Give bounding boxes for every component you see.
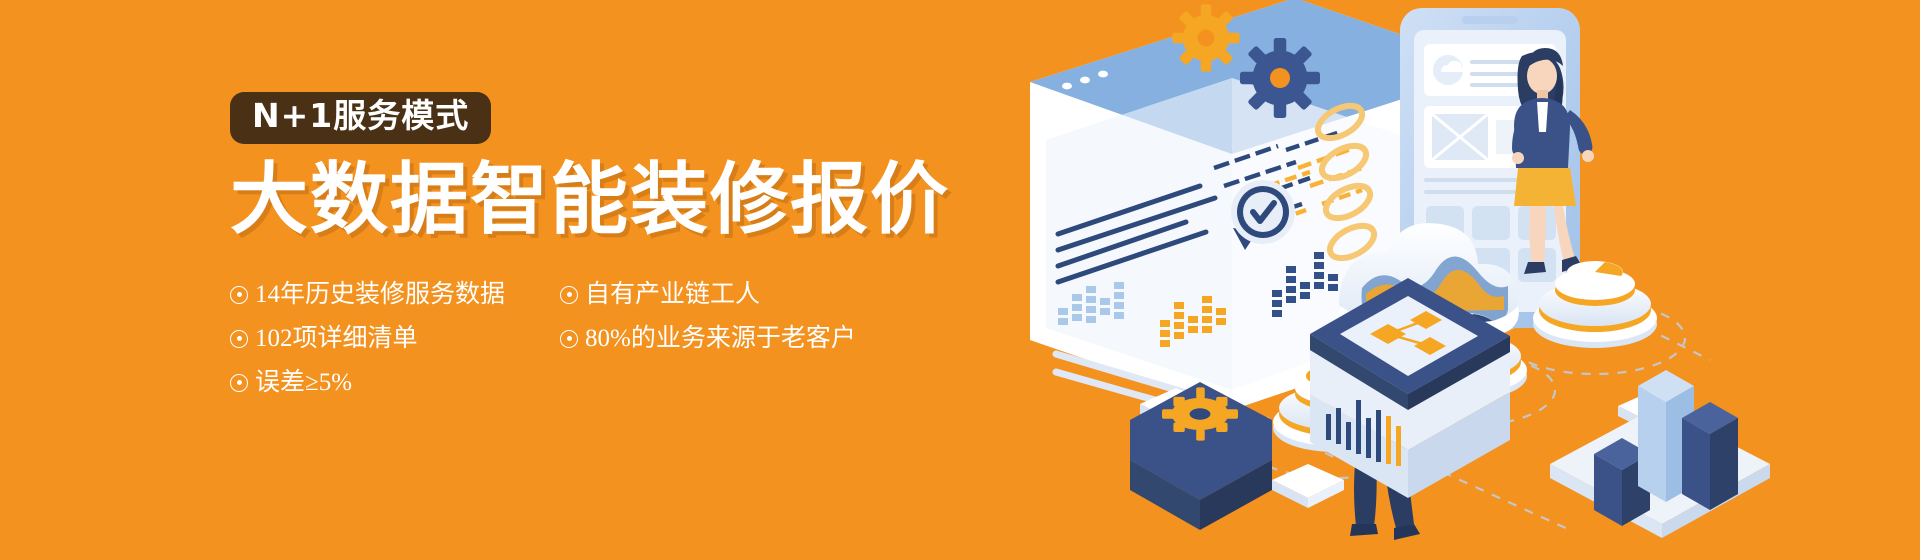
feature-list: 14年历史装修服务数据 102项详细清单 误差≥5% 自有产业链工人 80%的业… <box>230 273 1030 405</box>
gear-orange <box>1172 4 1239 71</box>
circled-dot-icon <box>230 286 248 304</box>
list-item-label: 102项详细清单 <box>255 326 418 351</box>
page-title: 大数据智能装修报价 <box>230 161 1030 239</box>
list-item: 80%的业务来源于老客户 <box>560 317 880 361</box>
list-item-label: 误差≥5% <box>255 370 352 395</box>
circled-dot-icon <box>560 330 578 348</box>
list-item: 误差≥5% <box>230 361 550 405</box>
list-item-label: 自有产业链工人 <box>585 282 760 307</box>
circled-dot-icon <box>230 374 248 392</box>
promo-banner: N+1服务模式 大数据智能装修报价 14年历史装修服务数据 102项详细清单 误… <box>0 0 1920 560</box>
list-item: 102项详细清单 <box>230 317 550 361</box>
list-item-label: 80%的业务来源于老客户 <box>585 326 856 351</box>
circled-dot-icon <box>560 286 578 304</box>
list-item: 14年历史装修服务数据 <box>230 273 550 317</box>
list-item-label: 14年历史装修服务数据 <box>255 282 505 307</box>
big-data-illustration <box>1010 0 1910 560</box>
gear-navy <box>1240 38 1320 118</box>
service-mode-badge: N+1服务模式 <box>230 92 491 144</box>
list-item: 自有产业链工人 <box>560 273 880 317</box>
circled-dot-icon <box>230 330 248 348</box>
bar-chart-3d <box>1550 370 1770 538</box>
banner-copy: N+1服务模式 大数据智能装修报价 14年历史装修服务数据 102项详细清单 误… <box>230 92 1030 405</box>
